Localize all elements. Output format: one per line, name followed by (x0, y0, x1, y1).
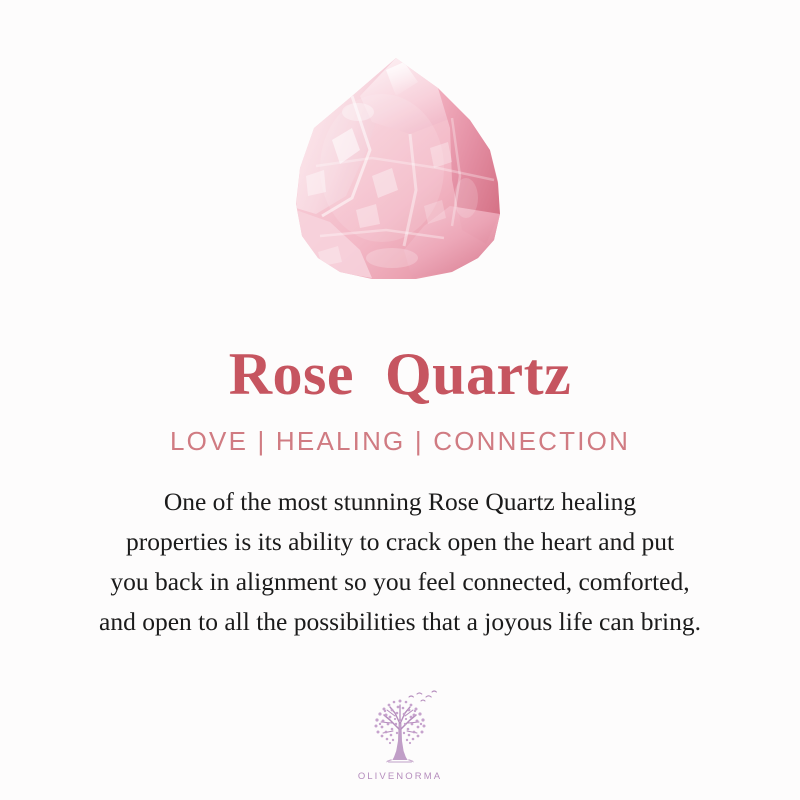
description-line: One of the most stunning Rose Quartz hea… (30, 482, 770, 522)
description-line: and open to all the possibilities that a… (30, 602, 770, 642)
page-title: Rose Quartz (229, 344, 572, 404)
keyword-subtitle: LOVE | HEALING | CONNECTION (170, 428, 630, 454)
crystal-image (0, 0, 800, 300)
product-description: One of the most stunning Rose Quartz hea… (30, 482, 770, 642)
product-info-card: Rose Quartz LOVE | HEALING | CONNECTION … (0, 0, 800, 800)
brand-wordmark: OLIVENORMA (358, 771, 442, 782)
description-line: properties is its ability to crack open … (30, 522, 770, 562)
rose-quartz-crystal-icon (0, 0, 800, 300)
brand-logo: OLIVENORMA (0, 689, 800, 782)
description-line: you back in alignment so you feel connec… (30, 562, 770, 602)
tree-of-life-icon (354, 689, 446, 767)
